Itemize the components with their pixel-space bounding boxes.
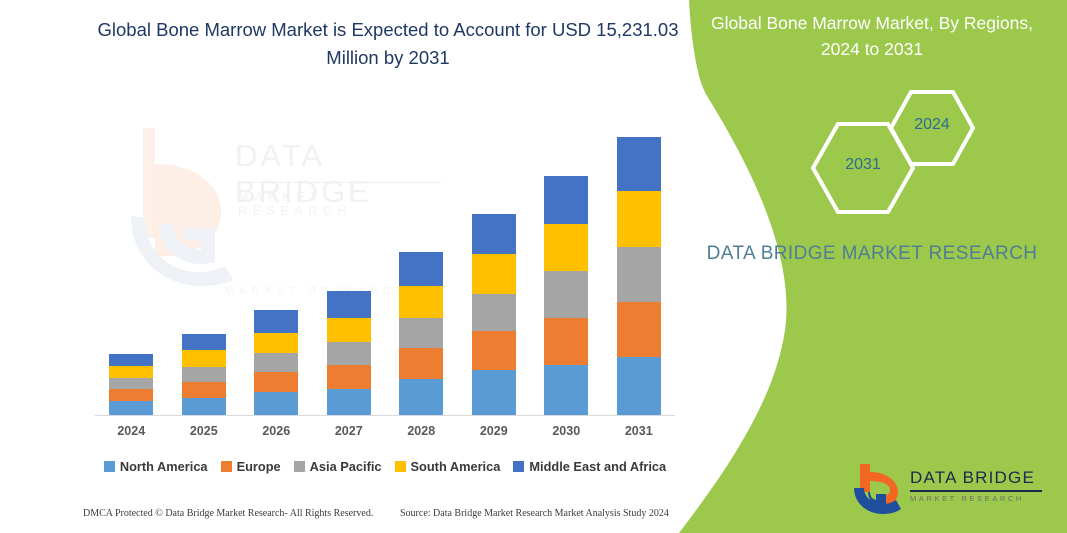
bar-segment xyxy=(617,137,661,191)
x-axis-labels: 20242025202620272028202920302031 xyxy=(95,424,675,444)
bar-stack-2029 xyxy=(472,214,516,415)
bar-segment xyxy=(109,389,153,401)
bar-segment xyxy=(327,318,371,342)
bar-segment xyxy=(327,342,371,365)
x-axis-label-2025: 2025 xyxy=(169,424,239,438)
bar-segment xyxy=(544,365,588,415)
bar-stack-2027 xyxy=(327,291,371,415)
legend-item[interactable]: Middle East and Africa xyxy=(513,459,666,474)
legend-label: South America xyxy=(411,459,501,474)
bar-segment xyxy=(472,294,516,331)
footer: DMCA Protected © Data Bridge Market Rese… xyxy=(0,508,700,530)
footer-source: Source: Data Bridge Market Research Mark… xyxy=(400,508,669,519)
bar-segment xyxy=(254,392,298,415)
bar-segment xyxy=(254,333,298,353)
bar-segment xyxy=(617,357,661,415)
bar-segment xyxy=(109,401,153,415)
legend-item[interactable]: North America xyxy=(104,459,208,474)
hexagon-badge-2031: 2031 xyxy=(809,120,917,216)
legend-swatch-icon xyxy=(513,461,524,472)
bar-segment xyxy=(182,398,226,415)
logo-divider xyxy=(910,490,1042,492)
bar-stack-2030 xyxy=(544,176,588,415)
hexagon-badges: 2024 2031 xyxy=(767,88,1057,208)
bar-segment xyxy=(617,302,661,357)
bar-segment xyxy=(182,334,226,350)
x-axis-label-2029: 2029 xyxy=(459,424,529,438)
hexagon-label-2031: 2031 xyxy=(809,156,917,174)
bar-segment xyxy=(617,247,661,302)
legend-swatch-icon xyxy=(221,461,232,472)
x-axis-label-2030: 2030 xyxy=(531,424,601,438)
legend-label: North America xyxy=(120,459,208,474)
x-axis-line xyxy=(95,415,675,416)
chart-legend: North AmericaEuropeAsia PacificSouth Ame… xyxy=(95,455,675,477)
bar-segment xyxy=(327,365,371,389)
bar-segment xyxy=(544,176,588,224)
bar-segment xyxy=(399,318,443,348)
bar-segment xyxy=(182,382,226,398)
legend-item[interactable]: South America xyxy=(395,459,501,474)
bar-segment xyxy=(182,350,226,367)
right-green-panel: Global Bone Marrow Market, By Regions, 2… xyxy=(667,0,1067,533)
bar-stack-2026 xyxy=(254,310,298,415)
bar-chart-plot-area xyxy=(95,120,675,416)
infographic-root: Global Bone Marrow Market is Expected to… xyxy=(0,0,1067,533)
bar-segment xyxy=(254,353,298,372)
bar-segment xyxy=(399,286,443,318)
bar-stack-2024 xyxy=(109,354,153,415)
panel-title: Global Bone Marrow Market, By Regions, 2… xyxy=(697,10,1047,62)
x-axis-label-2028: 2028 xyxy=(386,424,456,438)
logo-title: DATA BRIDGE xyxy=(910,468,1042,488)
databridge-logo: DATA BRIDGE MARKET RESEARCH xyxy=(852,462,1052,518)
bar-segment xyxy=(544,271,588,318)
x-axis-label-2031: 2031 xyxy=(604,424,674,438)
x-axis-label-2024: 2024 xyxy=(96,424,166,438)
bar-segment xyxy=(399,348,443,379)
legend-item[interactable]: Asia Pacific xyxy=(294,459,382,474)
legend-label: Asia Pacific xyxy=(310,459,382,474)
panel-brand-text: DATA BRIDGE MARKET RESEARCH xyxy=(697,240,1047,267)
bar-segment xyxy=(399,379,443,415)
footer-copyright: DMCA Protected © Data Bridge Market Rese… xyxy=(83,508,373,519)
legend-swatch-icon xyxy=(104,461,115,472)
bar-segment xyxy=(399,252,443,286)
x-axis-label-2026: 2026 xyxy=(241,424,311,438)
bar-segment xyxy=(109,354,153,366)
bar-segment xyxy=(109,366,153,378)
page-title: Global Bone Marrow Market is Expected to… xyxy=(88,16,688,72)
legend-label: Middle East and Africa xyxy=(529,459,666,474)
databridge-b-logo-icon xyxy=(852,462,908,516)
legend-item[interactable]: Europe xyxy=(221,459,281,474)
bar-segment xyxy=(472,254,516,294)
legend-label: Europe xyxy=(237,459,281,474)
bar-segment xyxy=(109,378,153,389)
bar-stack-2025 xyxy=(182,334,226,415)
bar-segment xyxy=(327,291,371,318)
bar-segment xyxy=(182,367,226,382)
bar-segment xyxy=(472,331,516,370)
logo-subtitle: MARKET RESEARCH xyxy=(910,494,1042,503)
x-axis-label-2027: 2027 xyxy=(314,424,384,438)
bar-stack-2031 xyxy=(617,137,661,415)
bar-segment xyxy=(254,372,298,392)
bar-segment xyxy=(617,191,661,247)
bar-segment xyxy=(544,318,588,365)
bar-segment xyxy=(254,310,298,333)
logo-text-block: DATA BRIDGE MARKET RESEARCH xyxy=(910,468,1042,503)
legend-swatch-icon xyxy=(395,461,406,472)
bar-segment xyxy=(472,370,516,415)
bar-segment xyxy=(472,214,516,254)
bar-stack-2028 xyxy=(399,252,443,415)
bar-segment xyxy=(327,389,371,415)
bar-segment xyxy=(544,224,588,271)
legend-swatch-icon xyxy=(294,461,305,472)
